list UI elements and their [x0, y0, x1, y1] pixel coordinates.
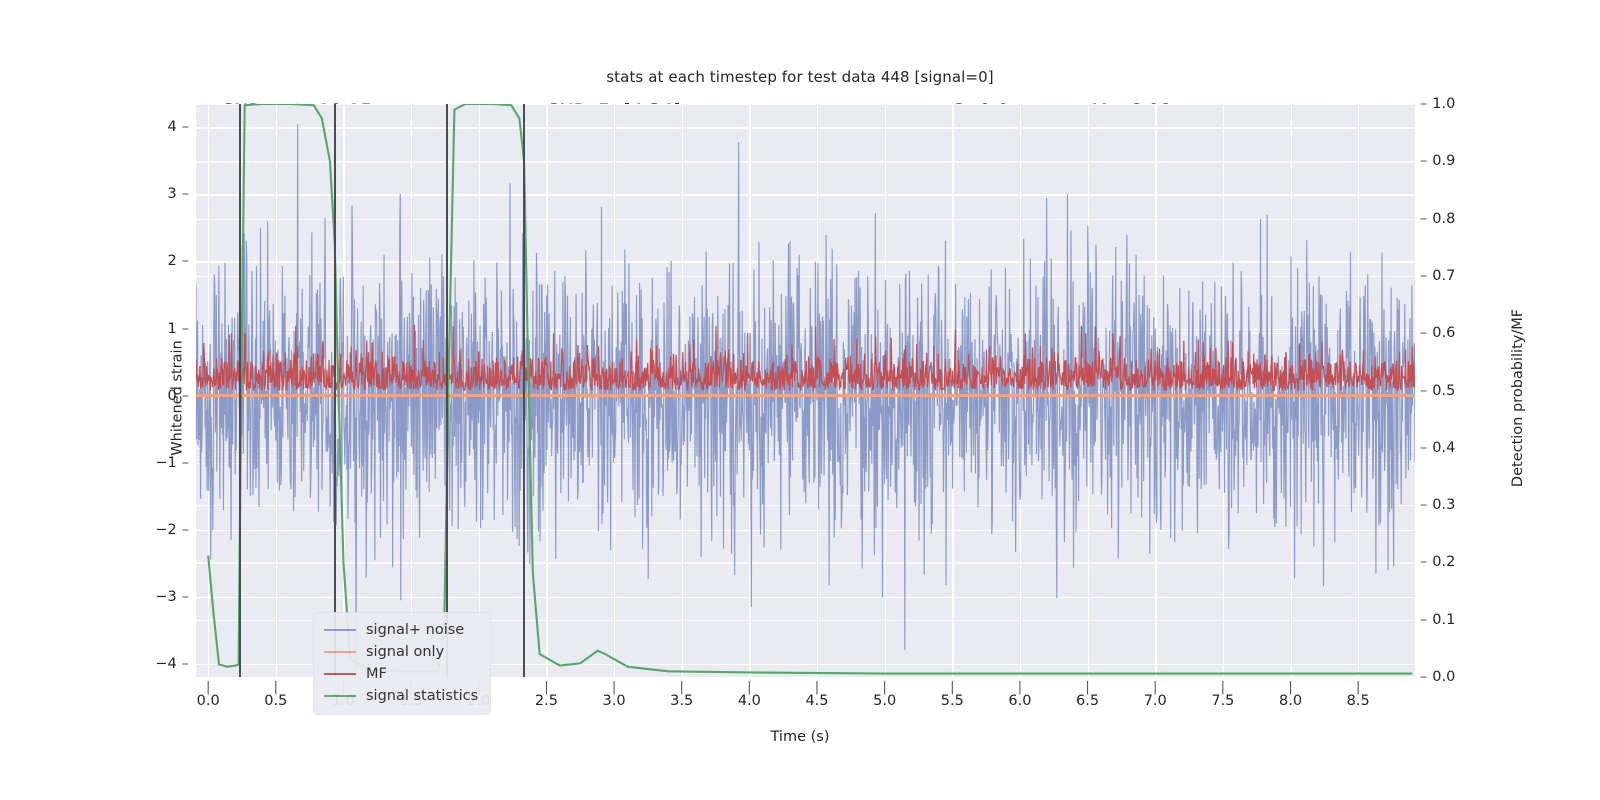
legend-color-swatch	[324, 673, 356, 675]
legend-color-swatch	[324, 629, 356, 631]
legend-label: signal statistics	[366, 688, 478, 704]
legend-label: signal+ noise	[366, 622, 464, 638]
x-tick-label: |5.5	[941, 684, 964, 709]
vertical-marker-line	[446, 104, 448, 677]
x-tick-label: |6.0	[1008, 684, 1031, 709]
y-tick-label-left: −1–	[155, 455, 189, 471]
x-tick-label: |0.0	[197, 684, 220, 709]
legend-item[interactable]: signal+ noise	[324, 619, 478, 641]
x-tick-label: |3.5	[670, 684, 693, 709]
vertical-marker-line	[523, 104, 525, 677]
y-tick-label-right: –0.8	[1420, 211, 1455, 227]
y-tick-label-left: 4–	[168, 119, 189, 135]
legend-item[interactable]: signal only	[324, 641, 478, 663]
y-tick-label-right: –0.2	[1420, 554, 1455, 570]
y-tick-label-right: –0.4	[1420, 440, 1455, 456]
legend-label: MF	[366, 666, 387, 682]
y-tick-label-right: –0.5	[1420, 383, 1455, 399]
legend[interactable]: signal+ noisesignal onlyMFsignal statist…	[313, 612, 491, 715]
y-tick-label-left: −4–	[155, 656, 189, 672]
y-tick-label-right: –0.6	[1420, 325, 1455, 341]
plot-area	[196, 104, 1415, 677]
y-tick-label-left: 2–	[168, 253, 189, 269]
legend-item[interactable]: signal statistics	[324, 685, 478, 707]
y-tick-label-right: –0.0	[1420, 669, 1455, 685]
legend-item[interactable]: MF	[324, 663, 478, 685]
y-tick-label-left: −2–	[155, 522, 189, 538]
y-tick-label-left: 1–	[168, 321, 189, 337]
chart-title: stats at each timestep for test data 448…	[0, 68, 1600, 86]
x-tick-label: |7.5	[1211, 684, 1234, 709]
x-tick-label: |4.0	[738, 684, 761, 709]
figure-canvas: stats at each timestep for test data 448…	[0, 0, 1600, 800]
y-tick-label-right: –1.0	[1420, 96, 1455, 112]
y-tick-label-right: –0.7	[1420, 268, 1455, 284]
legend-color-swatch	[324, 651, 356, 653]
x-tick-label: |3.0	[603, 684, 626, 709]
x-tick-label: |2.5	[535, 684, 558, 709]
x-tick-label: |8.0	[1279, 684, 1302, 709]
legend-label: signal only	[366, 644, 444, 660]
y-tick-label-left: 3–	[168, 186, 189, 202]
x-tick-label: |4.5	[805, 684, 828, 709]
x-axis-label: Time (s)	[0, 729, 1600, 745]
vertical-marker-line	[334, 104, 336, 677]
legend-color-swatch	[324, 695, 356, 697]
series-signal-noise	[196, 124, 1415, 670]
x-tick-label: |8.5	[1347, 684, 1370, 709]
y-tick-label-left: −3–	[155, 589, 189, 605]
y-tick-label-right: –0.9	[1420, 153, 1455, 169]
data-traces	[196, 104, 1415, 677]
y-tick-label-right: –0.1	[1420, 612, 1455, 628]
y-axis-label-right: Detection probability/MF	[1510, 309, 1526, 487]
x-tick-label: |0.5	[264, 684, 287, 709]
x-tick-label: |6.5	[1076, 684, 1099, 709]
x-tick-label: |7.0	[1144, 684, 1167, 709]
x-tick-label: |5.0	[873, 684, 896, 709]
y-tick-label-right: –0.3	[1420, 497, 1455, 513]
y-tick-label-left: 0–	[168, 388, 189, 404]
vertical-marker-line	[239, 104, 241, 677]
